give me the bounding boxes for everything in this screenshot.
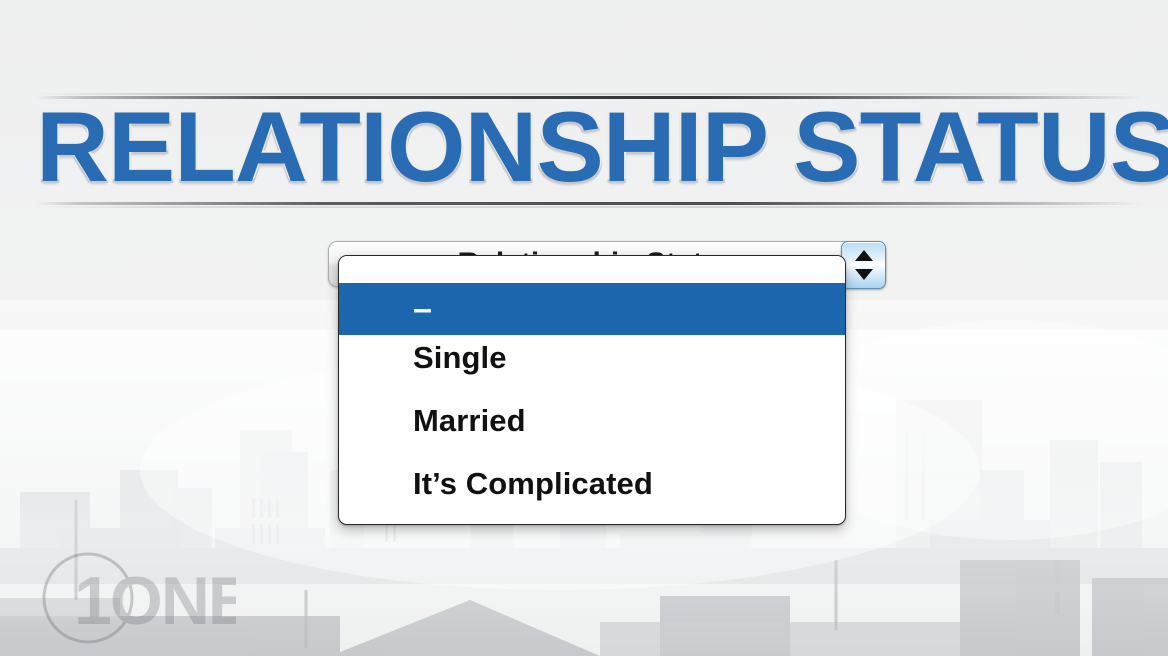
- select-stepper[interactable]: [841, 241, 886, 289]
- menu-top-padding: [339, 256, 845, 283]
- menu-item-label: It’s Complicated: [413, 466, 653, 501]
- triangle-up-icon[interactable]: [855, 250, 873, 261]
- title-band: RELATIONSHIP STATUS: [0, 88, 1168, 210]
- menu-item-label: Married: [413, 403, 526, 438]
- menu-item-label: Single: [413, 340, 507, 375]
- menu-item-dash[interactable]: –: [339, 283, 845, 335]
- menu-item-married[interactable]: Married: [339, 398, 845, 443]
- bottom-rule: [36, 202, 1144, 205]
- menu-item-single[interactable]: Single: [339, 335, 845, 380]
- bottom-rule-hairline: [36, 206, 1144, 208]
- menu-item-label: –: [413, 290, 432, 328]
- menu-item-its-complicated[interactable]: It’s Complicated: [339, 461, 845, 506]
- slide-canvas: 1ONE RELATIONSHIP STATUS Relationship St…: [0, 0, 1168, 656]
- triangle-down-icon[interactable]: [855, 269, 873, 280]
- page-title: RELATIONSHIP STATUS: [36, 94, 1166, 200]
- relationship-status-dropdown-menu[interactable]: – Single Married It’s Complicated: [338, 255, 846, 525]
